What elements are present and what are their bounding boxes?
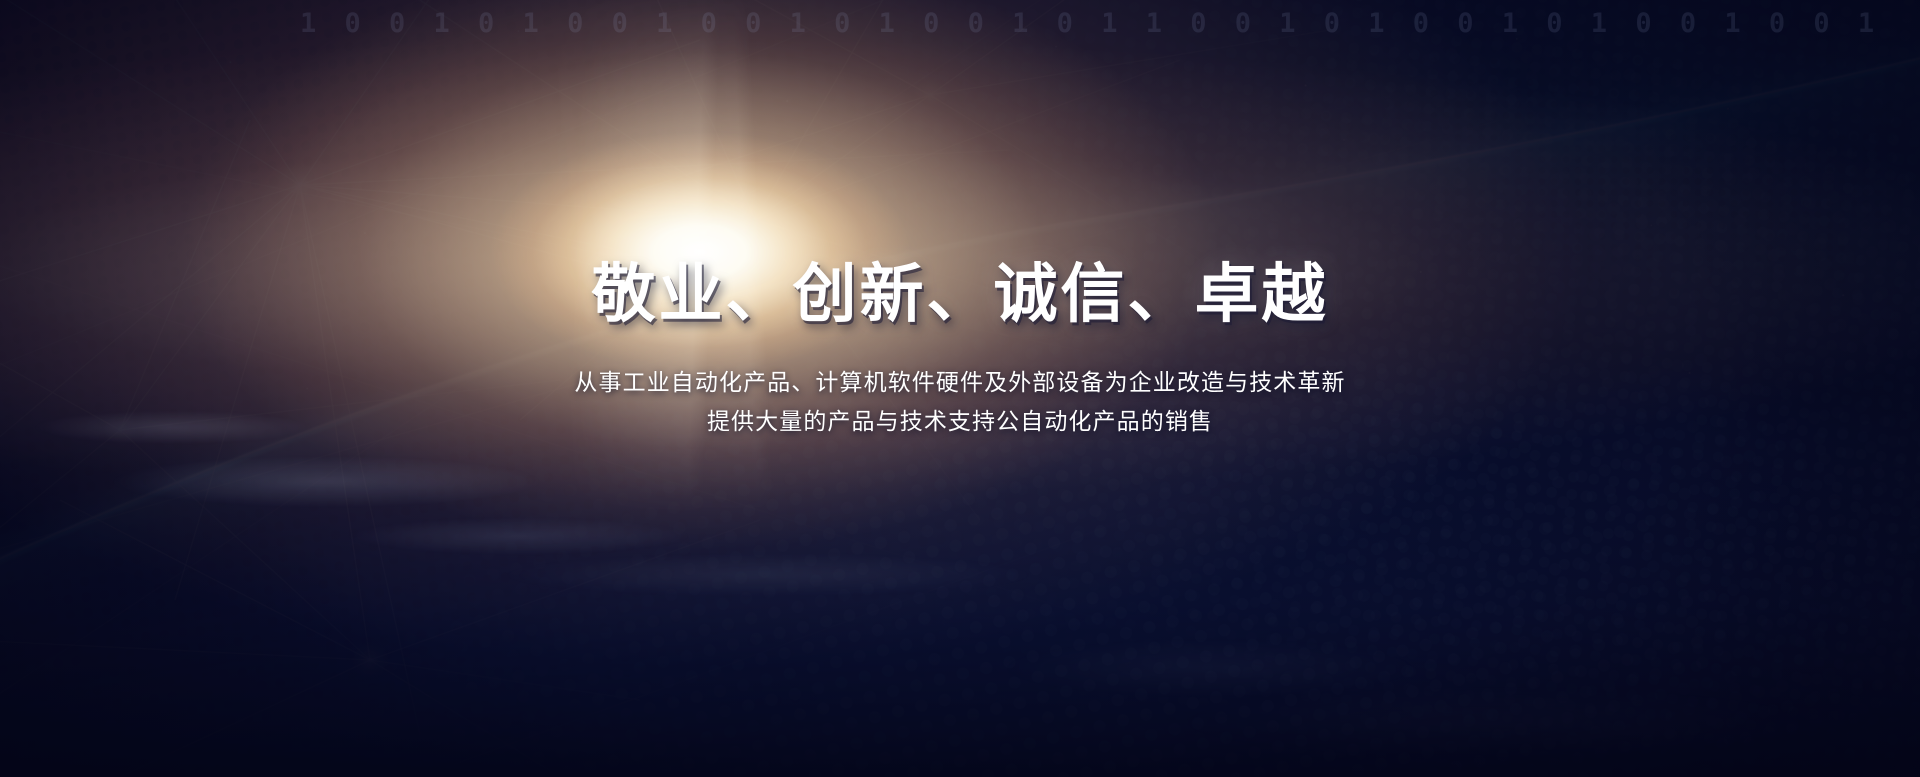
binary-digits-strip: 1 0 0 1 0 1 0 0 1 0 0 1 0 1 0 0 1 0 1 1 … (300, 6, 1920, 40)
hero-banner: 1 0 0 1 0 1 0 0 1 0 0 1 0 1 0 0 1 0 1 1 … (0, 0, 1920, 777)
banner-copy-block: 敬业、创新、诚信、卓越 从事工业自动化产品、计算机软件硬件及外部设备为企业改造与… (0, 262, 1920, 443)
page-title: 敬业、创新、诚信、卓越 (0, 262, 1920, 330)
banner-subtitle: 从事工业自动化产品、计算机软件硬件及外部设备为企业改造与技术革新 提供大量的产品… (0, 364, 1920, 443)
banner-subtitle-line-1: 从事工业自动化产品、计算机软件硬件及外部设备为企业改造与技术革新 (0, 364, 1920, 404)
banner-subtitle-line-2: 提供大量的产品与技术支持公自动化产品的销售 (0, 403, 1920, 443)
